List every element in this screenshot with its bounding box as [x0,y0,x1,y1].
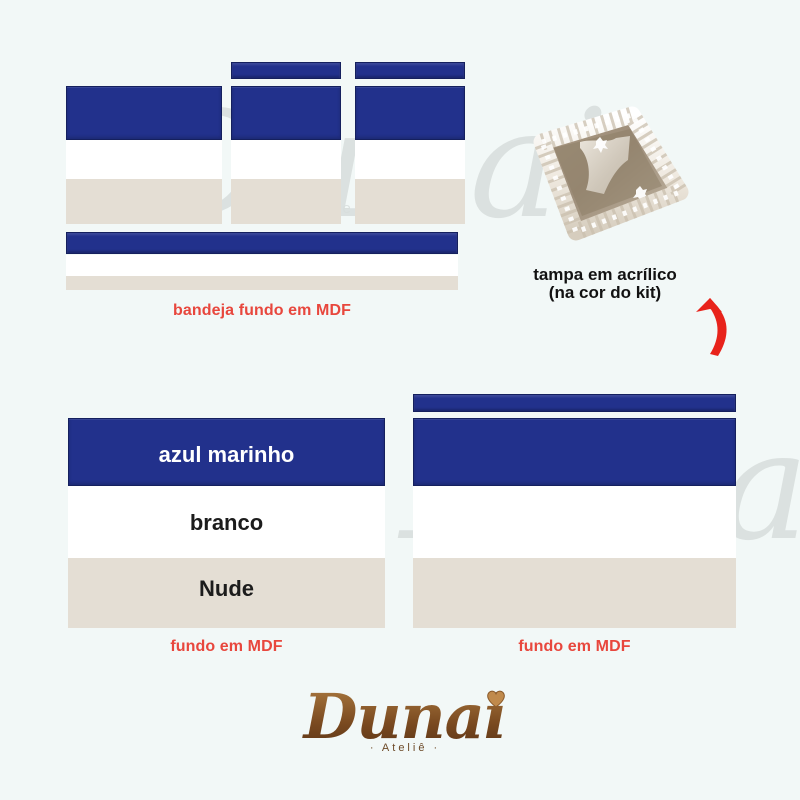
swatch-left-navy-label: azul marinho [68,442,385,468]
tray-panel-middle-white [231,140,341,179]
acrylic-lid-photo [512,98,698,248]
swatch-right-nude-band [413,558,736,628]
swatch-right-navy-band [413,418,736,486]
brand-logo: Dunai · Ateliê · [300,686,510,782]
swatch-left-caption: fundo em MDF [68,638,385,656]
product-spec-sheet: Dunai · Ateliê · Dunai · Ateliê · bandej… [0,0,800,800]
tray-panel-right-white [355,140,465,179]
lid-caption-line1: tampa em acrílico [500,266,710,284]
tray-panel-right-nude [355,179,465,224]
tray-panel-left-nude [66,179,222,224]
tray-panel-middle-strip [231,62,341,79]
brand-wordmark: Dunai [300,686,510,748]
swatch-left-nude-label: Nude [68,576,385,602]
curved-arrow-up-left-icon [680,282,750,360]
tray-panel-middle-nude [231,179,341,224]
swatch-left-white-label: branco [68,510,385,536]
lid-caption-line2: (na cor do kit) [500,284,710,302]
tray-panel-right-navy [355,86,465,140]
swatch-right-white-band [413,486,736,558]
tray-panel-wide-nude [66,276,458,290]
tray-panel-middle-navy [231,86,341,140]
tray-panel-right-strip [355,62,465,79]
swatch-right-caption: fundo em MDF [413,638,736,656]
heart-icon [486,690,506,708]
tray-panel-left-navy [66,86,222,140]
tray-panel-left-white [66,140,222,179]
tray-panel-wide-white [66,255,458,276]
swatch-right-top-strip [413,394,736,412]
tray-panel-wide-strip [66,232,458,254]
tray-section-caption: bandeja fundo em MDF [66,302,458,320]
